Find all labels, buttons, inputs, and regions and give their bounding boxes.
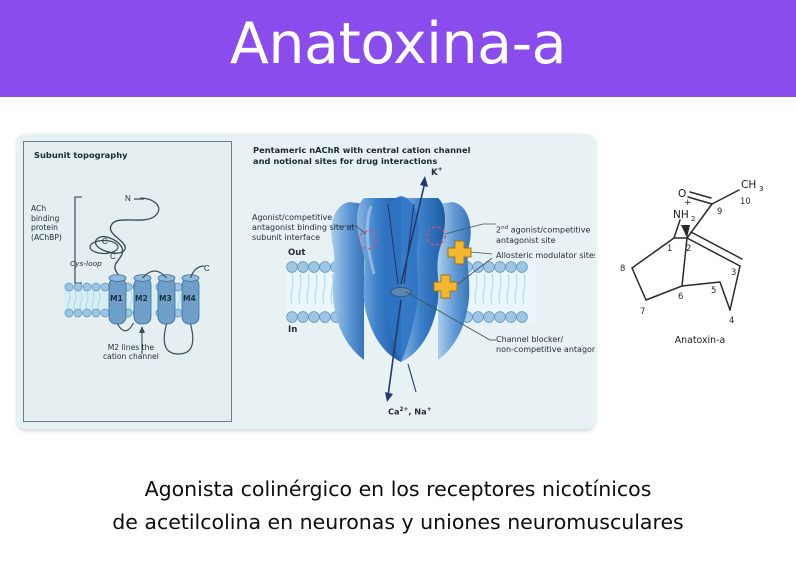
- c-label-inner-1: C: [102, 237, 108, 246]
- svg-text:2: 2: [691, 215, 695, 223]
- caption-line-2: de acetilcolina en neuronas y uniones ne…: [0, 506, 796, 539]
- topography-diagram-svg: [24, 142, 233, 423]
- svg-text:6: 6: [678, 291, 683, 301]
- svg-text:5: 5: [711, 285, 716, 295]
- channel-blocker-line-1: Channel blocker/: [496, 335, 595, 345]
- anatoxin-a-skeletal-svg: NH 2 + O CH 3 1 2 3 4 5 6 7 8 9 10: [612, 176, 788, 336]
- agonist-binding-site-label: Agonist/competitive antagonist binding s…: [252, 213, 372, 243]
- svg-text:3: 3: [731, 267, 736, 277]
- svg-text:10: 10: [740, 196, 751, 206]
- helix-label-m3: M3: [159, 294, 172, 303]
- svg-text:O: O: [678, 188, 686, 200]
- svg-text:CH: CH: [741, 179, 756, 191]
- channel-blocker-label: Channel blocker/ non-competitive antagon…: [496, 335, 595, 355]
- potassium-ion-label: K+: [431, 165, 443, 178]
- m2-note-line-2: cation channel: [103, 352, 159, 361]
- extracellular-label: Out: [288, 248, 306, 258]
- svg-text:NH: NH: [673, 209, 689, 221]
- svg-text:8: 8: [620, 263, 625, 273]
- intracellular-label: In: [288, 325, 297, 335]
- sodium-symbol: , Na: [408, 407, 426, 417]
- svg-text:9: 9: [717, 206, 722, 216]
- second-site-rest: agonist/competitive antagonist site: [496, 226, 590, 245]
- page-title: Anatoxina-a: [0, 0, 796, 97]
- c-label-inner-2: C: [110, 252, 116, 261]
- c-terminus-label: C: [204, 264, 210, 273]
- svg-text:1: 1: [667, 243, 672, 253]
- subunit-topography-panel: Subunit topography ACh binding protein (…: [23, 141, 232, 422]
- second-agonist-site-label: 2nd agonist/competitive antagonist site: [496, 223, 595, 246]
- n-terminus-label: N: [125, 194, 131, 203]
- m2-note-line-1: M2 lines the: [103, 343, 159, 352]
- allosteric-modulator-sites-label: Allosteric modulator sites: [496, 251, 595, 261]
- slide-caption: Agonista colinérgico en los receptores n…: [0, 473, 796, 539]
- m2-channel-note: M2 lines the cation channel: [103, 343, 159, 362]
- channel-blocker-line-2: non-competitive antagonist: [496, 345, 595, 355]
- calcium-symbol: Ca: [388, 407, 400, 417]
- anatoxin-a-caption: Anatoxin-a: [612, 335, 788, 346]
- potassium-charge: +: [438, 166, 443, 173]
- helix-label-m1: M1: [110, 294, 123, 303]
- svg-text:2: 2: [686, 243, 691, 253]
- cys-loop-label: Cys-loop: [70, 259, 102, 268]
- caption-line-1: Agonista colinérgico en los receptores n…: [0, 473, 796, 506]
- svg-text:7: 7: [640, 306, 645, 316]
- svg-text:4: 4: [729, 315, 734, 325]
- anatoxin-a-structure: NH 2 + O CH 3 1 2 3 4 5 6 7 8 9 10 Anato…: [612, 176, 788, 354]
- svg-text:3: 3: [759, 185, 763, 193]
- sodium-charge: +: [427, 407, 432, 413]
- figure-card: Subunit topography ACh binding protein (…: [17, 134, 595, 429]
- helix-label-m2: M2: [135, 294, 148, 303]
- potassium-symbol: K: [431, 168, 438, 178]
- helix-label-m4: M4: [183, 294, 196, 303]
- pentameric-nachr-panel: Pentameric nAChR with central cation cha…: [238, 134, 595, 429]
- calcium-sodium-ion-label: Ca2+, Na+: [388, 405, 432, 417]
- nachr-receptor-svg: [238, 134, 595, 429]
